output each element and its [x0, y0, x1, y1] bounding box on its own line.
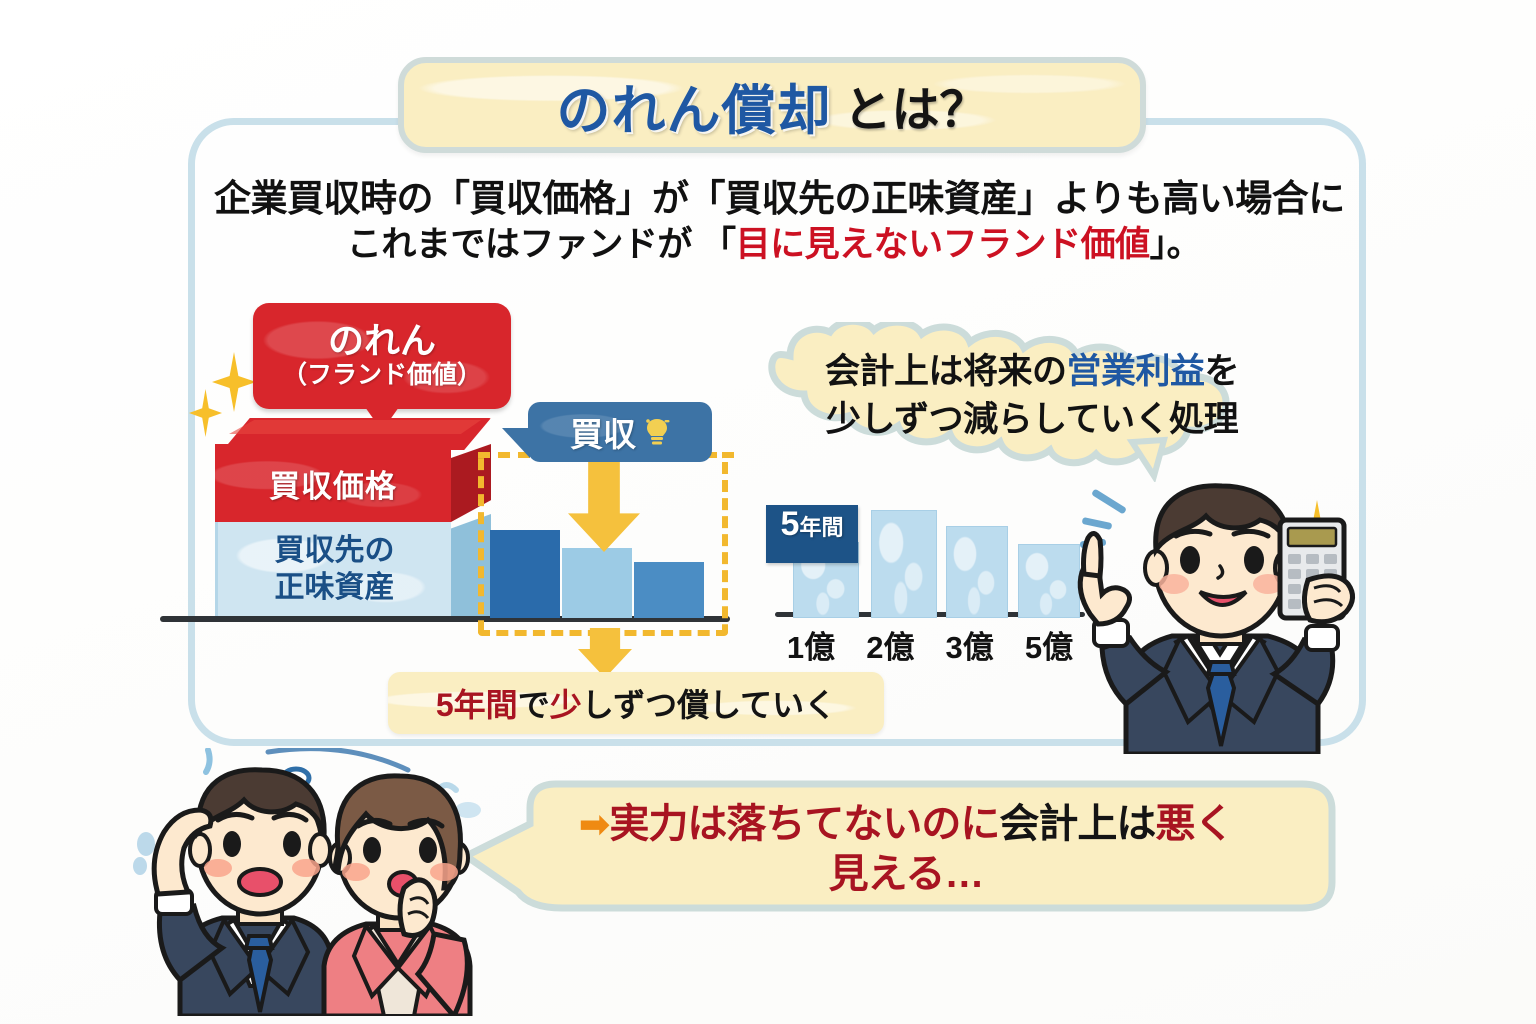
infographic-canvas: のれん償却 とは？ 企業買収時の「買収価格」が「買収先の正味資産」よりも高い場合…	[0, 0, 1536, 1024]
tag-tail-icon	[502, 428, 530, 458]
box-bottom-label-2: 正味資産	[275, 570, 395, 607]
lead-line-2-highlight: 目に見えないフランド価値	[736, 225, 1150, 264]
cloud-line-1: 会計上は将来の営業利益を	[712, 348, 1352, 396]
page-title-suffix: とは？	[843, 70, 987, 140]
acquisition-tag: 買収	[528, 402, 712, 462]
acquisition-tag-label: 買収	[570, 408, 636, 456]
conclusion-text: ➡実力は落ちてないのに会計上は悪く 見える…	[466, 800, 1346, 899]
box-segment-net-assets: 買収先の 正味資産	[215, 522, 451, 618]
five-year-badge-number: 5	[781, 505, 800, 544]
goodwill-callout: のれん （フランド価値）	[253, 303, 511, 409]
valuation-box: 買収価格 買収先の 正味資産	[205, 418, 515, 618]
conclusion-line-1: ➡実力は落ちてないのに会計上は悪く	[466, 800, 1346, 849]
chart-bar	[871, 510, 937, 618]
chart-x-label: 2億	[854, 622, 926, 667]
box-bottom-label-1: 買収先の	[275, 533, 395, 570]
lead-line-1: 企業買収時の「買収価格」が「買収先の正味資産」よりも高い場合に	[214, 178, 1334, 219]
chart-x-axis-labels: 1億 2億 3億 5億	[775, 622, 1085, 667]
arrow-right-icon: ➡	[579, 804, 610, 846]
page-title: のれん償却 とは？	[398, 57, 1146, 153]
cloud-line-1-pre: 会計上は将来の	[825, 352, 1067, 391]
box-top-label: 買収価格	[269, 461, 397, 506]
chart-bar	[946, 526, 1008, 618]
lead-line-2: これまではファンドが 「目に見えないフランド価値」。	[214, 219, 1334, 272]
conclusion-line-1-c: 悪く	[1155, 802, 1233, 846]
accounting-note-bubble: 会計上は将来の営業利益を 少しずつ減らしていく処理	[712, 322, 1352, 482]
banner-part-4: しずつ償していく	[582, 680, 836, 726]
lead-line-2-post: 」。	[1150, 225, 1202, 264]
declining-bar	[634, 562, 704, 618]
banner-part-2: で	[518, 680, 550, 726]
conclusion-line-1-a: 実力は落ちてないのに	[609, 802, 999, 846]
goodwill-callout-main: のれん	[328, 323, 436, 359]
cloud-line-1-highlight: 営業利益	[1066, 352, 1204, 391]
cloud-line-2: 少しずつ減らしていく処理	[712, 396, 1352, 444]
cloud-line-1-post: を	[1205, 352, 1240, 391]
confused-couple-illustration	[118, 748, 490, 1016]
lightbulb-icon	[644, 417, 670, 447]
declining-bar	[490, 530, 560, 618]
banner-part-1: 5年間	[436, 680, 518, 726]
page-title-main: のれん償却	[556, 66, 831, 145]
conclusion-line-2: 見える…	[466, 849, 1346, 899]
lead-line-2-pre: これまではファンドが 「	[347, 225, 736, 264]
accounting-note-text: 会計上は将来の営業利益を 少しずつ減らしていく処理	[712, 348, 1352, 445]
five-year-badge: 5 年間	[766, 505, 858, 563]
chart-x-label: 1億	[775, 622, 847, 667]
amortization-banner: 5年間で少しずつ償していく	[388, 672, 884, 734]
declining-bar	[562, 548, 632, 618]
lead-paragraph: 企業買収時の「買収価格」が「買収先の正味資産」よりも高い場合に これまではファン…	[214, 178, 1334, 272]
conclusion-line-1-b: 会計上は	[999, 802, 1155, 846]
box-segment-acquisition-price: 買収価格	[215, 444, 451, 522]
box-top-highlight	[229, 420, 481, 434]
chart-x-label: 3億	[934, 622, 1006, 667]
conclusion-bubble: ➡実力は落ちてないのに会計上は悪く 見える…	[466, 778, 1346, 920]
five-year-badge-unit: 年間	[799, 510, 843, 542]
businessman-with-calculator-illustration	[1068, 472, 1378, 754]
banner-part-3: 少	[550, 680, 582, 726]
goodwill-callout-sub: （フランド価値）	[282, 361, 482, 390]
